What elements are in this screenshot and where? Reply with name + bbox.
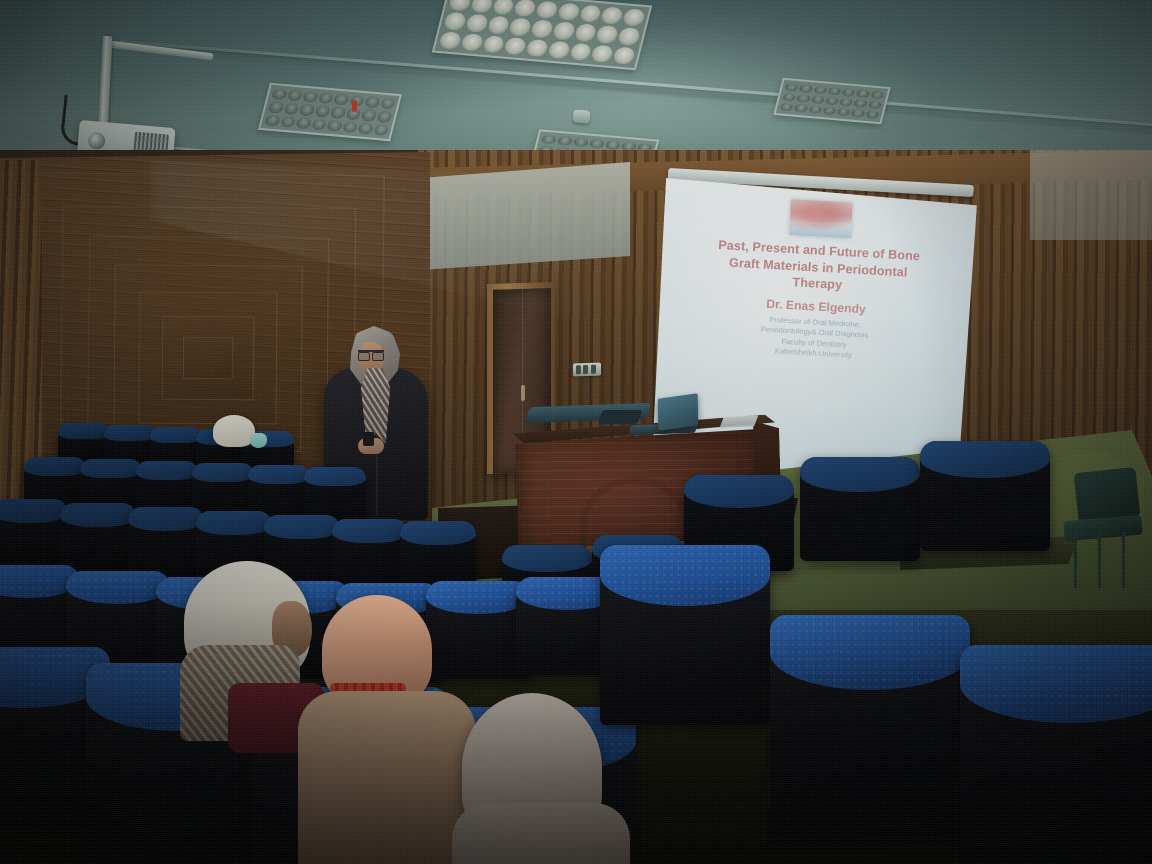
light-switch-panel[interactable] [573,363,601,377]
seat[interactable] [600,545,770,725]
slide-thumbnail-image [789,199,853,238]
seat[interactable] [0,499,68,569]
seat[interactable] [332,519,408,589]
lecture-hall-photo: Past, Present and Future of Bone Graft M… [0,0,1152,864]
audience-headscarf [213,415,255,447]
green-corner-chair[interactable] [1062,470,1144,590]
seat[interactable] [128,507,204,577]
seat[interactable] [60,503,136,573]
slide-title: Past, Present and Future of Bone Graft M… [678,235,958,300]
seat[interactable] [800,457,920,561]
chair-legs [1070,532,1136,588]
seat[interactable] [920,441,1050,551]
plaster-wall-section [420,160,630,270]
audience-shoulders [298,691,476,864]
face-mask-icon [250,433,267,448]
seat[interactable] [960,645,1152,864]
seat[interactable] [426,581,530,679]
auditorium-seating [0,395,1152,864]
audience-shoulders [452,803,630,864]
ceiling-marker [352,100,357,112]
smoke-detector-icon [573,109,591,123]
seat[interactable] [770,615,970,835]
projector-lens [87,132,105,150]
glasses-icon [358,350,384,359]
plaster-wall-section [1030,150,1152,240]
